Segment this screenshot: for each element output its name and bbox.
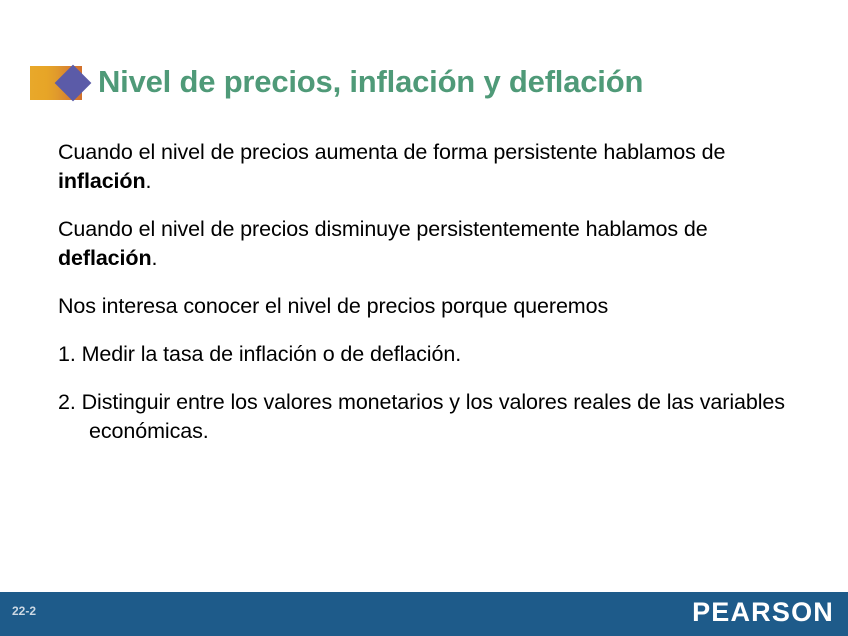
page-title: Nivel de precios, inflación y deflación [98,58,643,106]
list-item-label: Medir la tasa de inflación o de deflació… [82,342,461,366]
paragraph-text: Nos interesa conocer el nivel de precios… [58,294,608,318]
list-item: 2. Distinguir entre los valores monetari… [58,388,788,446]
paragraph-text-before: Cuando el nivel de precios aumenta de fo… [58,140,725,164]
paragraph-text-after: . [151,246,157,270]
paragraph-text-before: Cuando el nivel de precios disminuye per… [58,217,708,241]
list-item: 1. Medir la tasa de inflación o de defla… [58,340,788,369]
footer-bar: 22-2 PEARSON [0,592,848,636]
slide-canvas: Nivel de precios, inflación y deflación … [0,0,848,636]
slide-body: Cuando el nivel de precios aumenta de fo… [58,138,788,465]
slide-number: 22-2 [12,604,36,618]
paragraph-deflacion: Cuando el nivel de precios disminuye per… [58,215,788,273]
list-item-label: Distinguir entre los valores monetarios … [82,390,785,443]
pearson-logo: PEARSON [692,597,834,628]
title-row: Nivel de precios, inflación y deflación [0,58,848,110]
list-item-number: 1. [58,342,76,366]
term-deflacion: deflación [58,246,151,270]
paragraph-text-after: . [146,169,152,193]
list-item-number: 2. [58,390,76,414]
paragraph-lead-in: Nos interesa conocer el nivel de precios… [58,292,788,321]
paragraph-inflacion: Cuando el nivel de precios aumenta de fo… [58,138,788,196]
title-decoration [30,66,82,100]
term-inflacion: inflación [58,169,146,193]
